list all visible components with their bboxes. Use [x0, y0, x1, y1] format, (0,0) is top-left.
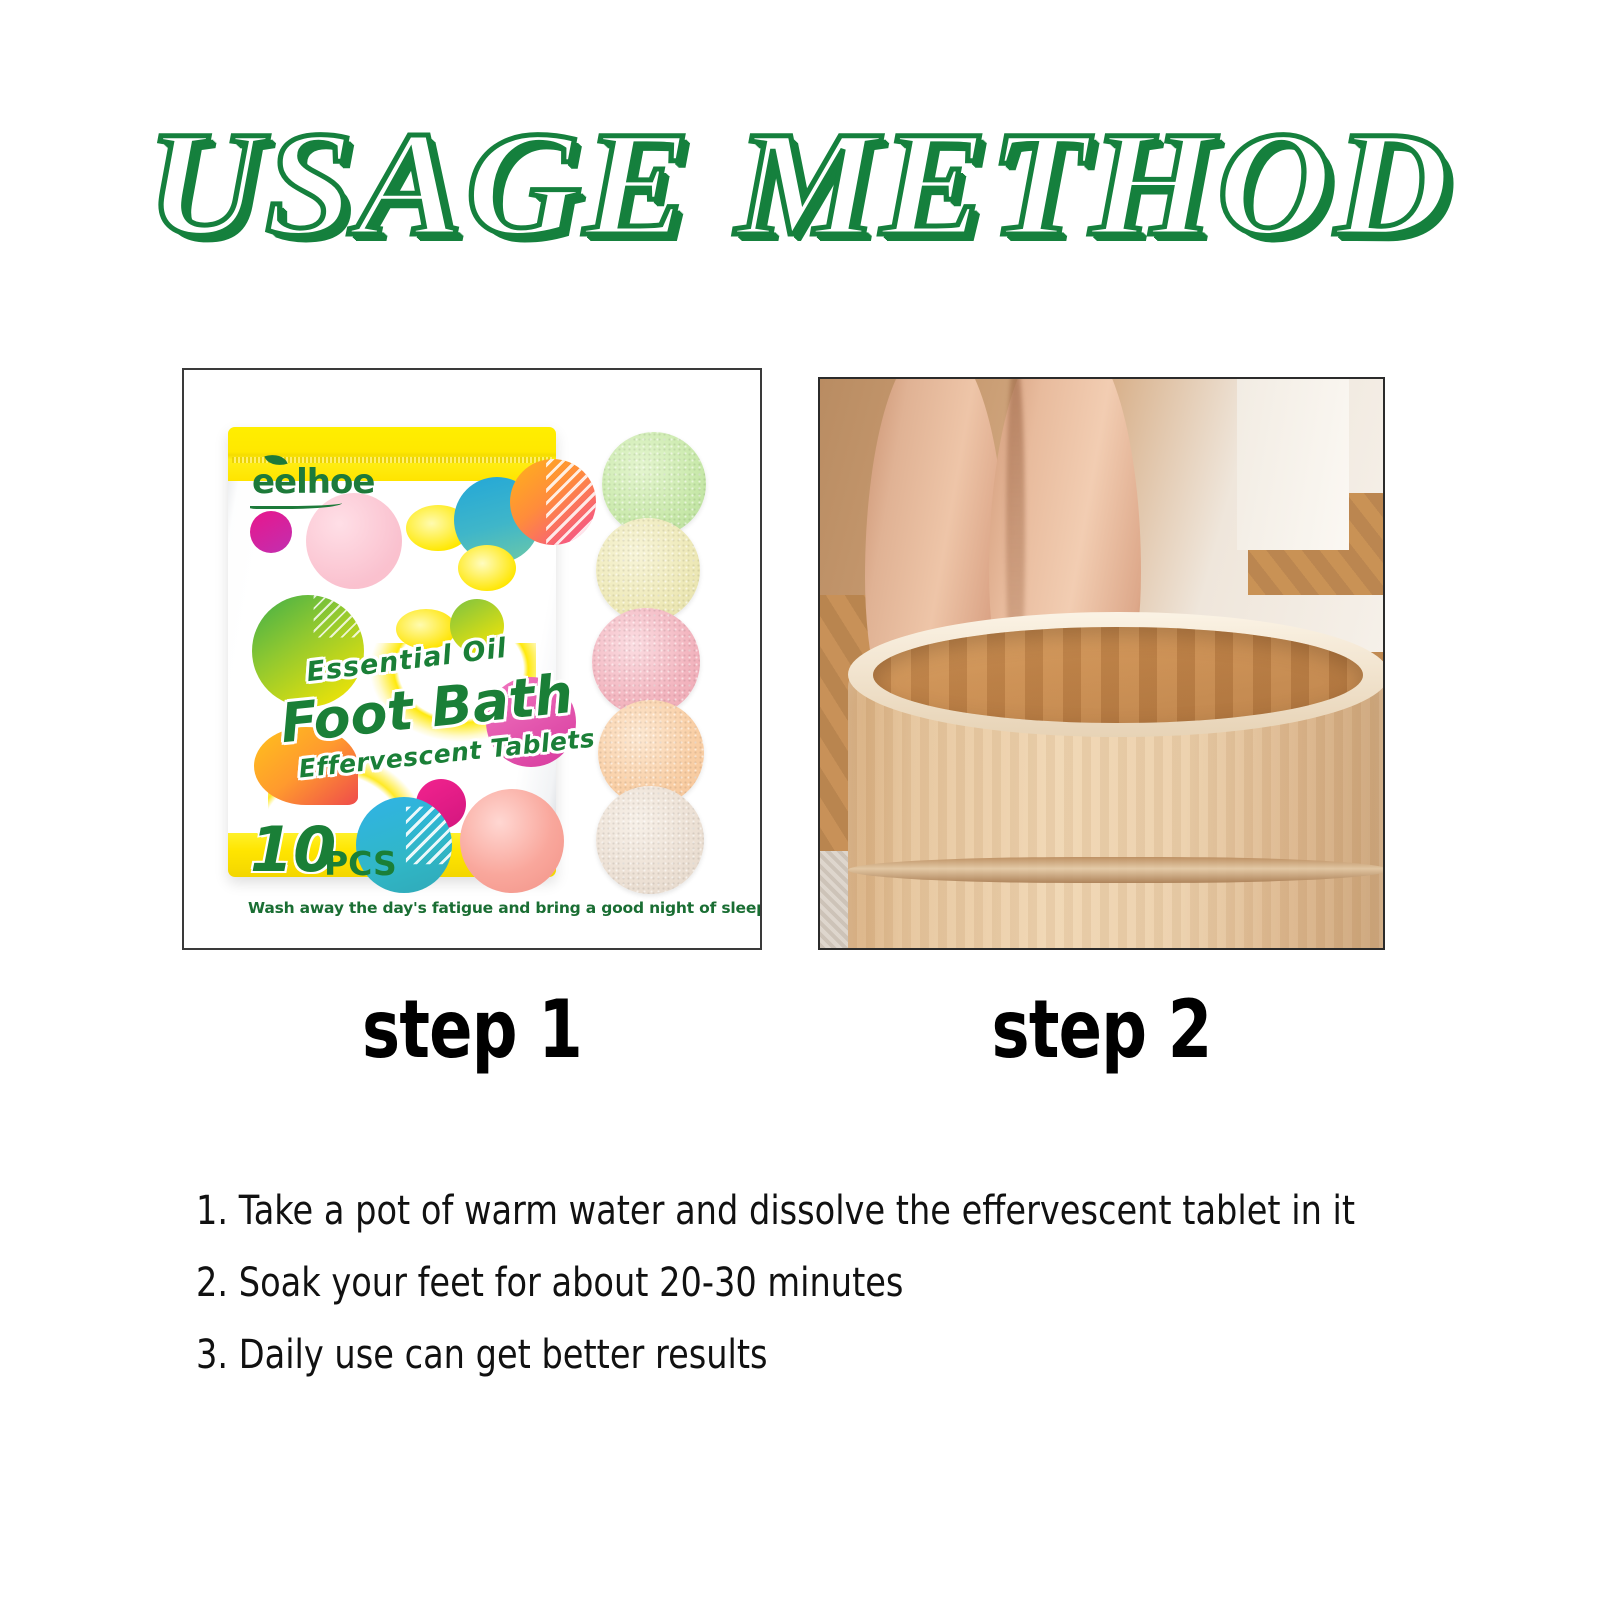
- step-2-image-frame: [818, 377, 1385, 950]
- foot-bath-photo: [820, 379, 1383, 948]
- yellow-tablet: [596, 518, 700, 622]
- decor-bubble-magenta: [250, 511, 292, 553]
- cream-tablet: [596, 786, 704, 894]
- product-pouch: eelhoe Essential Oil Foot Bath Effervesc…: [228, 427, 556, 877]
- package-tagline: Wash away the day's fatigue and bring a …: [248, 899, 762, 917]
- usage-method-infographic: USAGE METHOD: [0, 0, 1600, 1600]
- instruction-line-1: 1. Take a pot of warm water and dissolve…: [196, 1175, 1436, 1247]
- instructions-list: 1. Take a pot of warm water and dissolve…: [196, 1175, 1436, 1391]
- decor-dissolving-tablet: [460, 789, 564, 893]
- page-title: USAGE METHOD: [147, 108, 1453, 261]
- package-count-unit: PCS: [324, 847, 397, 880]
- step-2-label: step 2: [875, 990, 1329, 1070]
- bucket-metal-band: [848, 857, 1383, 883]
- decor-bubble-yellow-2: [458, 545, 516, 591]
- page-title-container: USAGE METHOD: [0, 108, 1600, 261]
- product-package-photo: eelhoe Essential Oil Foot Bath Effervesc…: [184, 370, 760, 948]
- decor-bubble-orange-striped: [510, 459, 596, 545]
- brand-name: eelhoe: [252, 465, 374, 499]
- step-1-image-frame: eelhoe Essential Oil Foot Bath Effervesc…: [182, 368, 762, 950]
- instruction-line-3: 3. Daily use can get better results: [196, 1319, 1436, 1391]
- instruction-line-2: 2. Soak your feet for about 20-30 minute…: [196, 1247, 1436, 1319]
- bucket-inner-wall-grain: [873, 627, 1363, 724]
- curtain: [1237, 379, 1350, 550]
- step-1-label: step 1: [240, 990, 704, 1070]
